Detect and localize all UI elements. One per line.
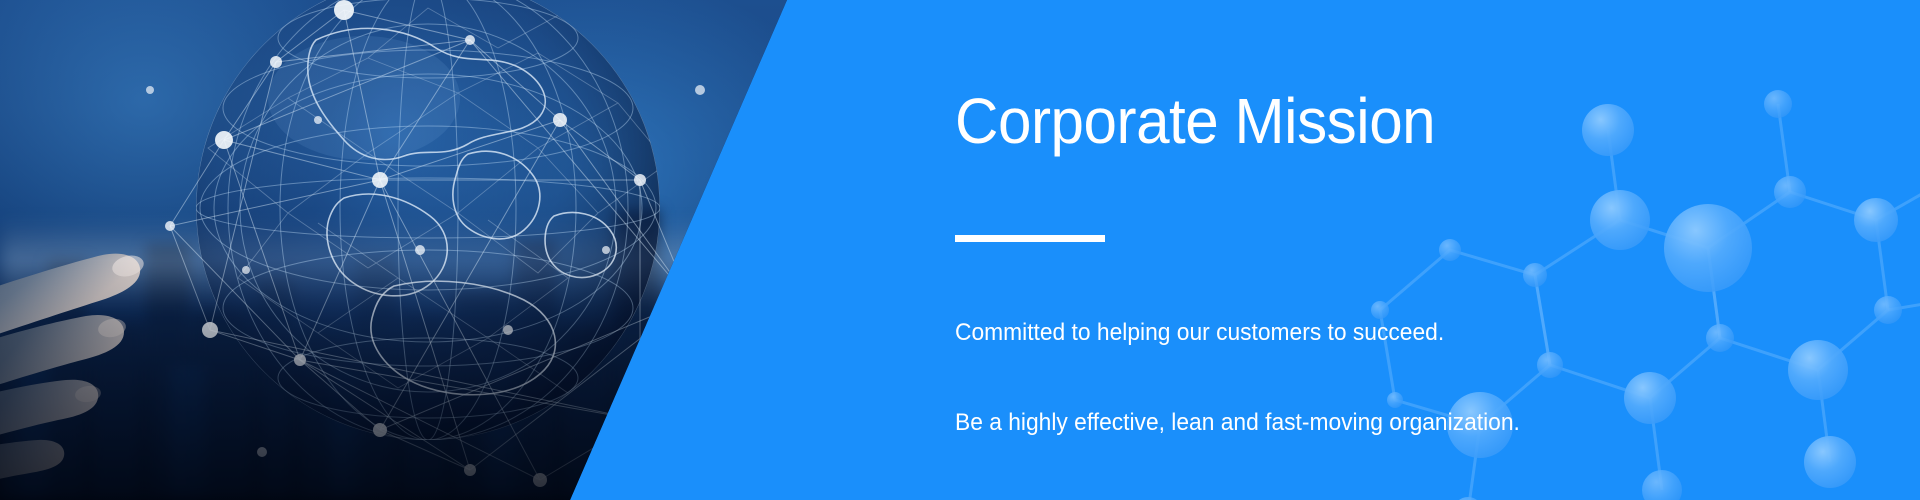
- corporate-mission-banner: Corporate Mission Committed to helping o…: [0, 0, 1920, 500]
- mission-line-1: Committed to helping our customers to su…: [955, 318, 1544, 348]
- mission-statement: Committed to helping our customers to su…: [955, 258, 1544, 500]
- banner-content: Corporate Mission Committed to helping o…: [955, 0, 1855, 500]
- mission-line-2: Be a highly effective, lean and fast-mov…: [955, 408, 1544, 438]
- title-underline: [955, 235, 1105, 242]
- page-title: Corporate Mission: [955, 88, 1435, 155]
